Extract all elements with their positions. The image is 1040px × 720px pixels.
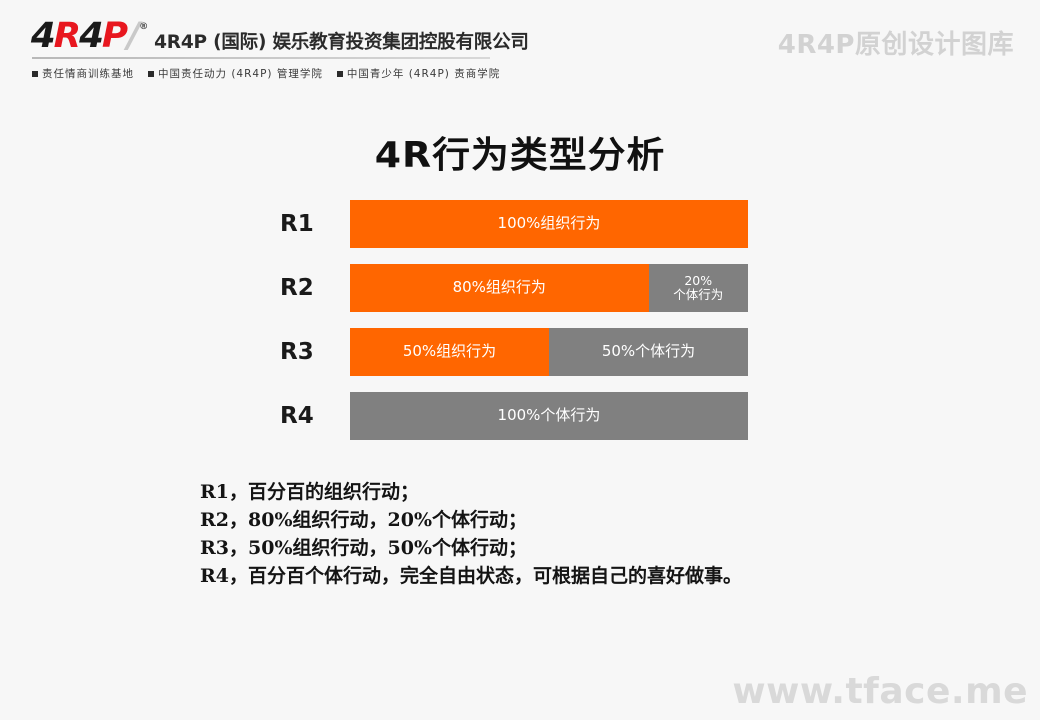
site-header: 4R4P/® 4R4P (国际) 娱乐教育投资集团控股有限公司 责任情商训练基地… — [0, 0, 1040, 88]
bar-row: R4 100%个体行为 — [0, 392, 1040, 440]
bar-segment-individual: 50%个体行为 — [549, 328, 748, 376]
bar-segment-organizational: 80%组织行为 — [350, 264, 649, 312]
4r4p-logo-icon: 4R4P/® — [31, 19, 147, 54]
company-name: 4R4P (国际) 娱乐教育投资集团控股有限公司 — [154, 28, 529, 54]
bar-segment-text-line2: 个体行为 — [673, 288, 723, 302]
sub-item-label: 责任情商训练基地 — [42, 66, 134, 81]
logo-part-2: R — [54, 19, 79, 54]
registered-trademark-icon: ® — [139, 23, 148, 32]
logo-part-3: 4 — [79, 19, 102, 54]
annotation-line: R3，50%组织行动，50%个体行动； — [200, 534, 1000, 562]
bar-segment-individual: 100%个体行为 — [350, 392, 748, 440]
bar-segment-text: 20% — [684, 274, 712, 288]
header-watermark: 4R4P原创设计图库 — [778, 24, 1014, 61]
bar-track: 80%组织行为 20% 个体行为 — [350, 264, 748, 312]
annotation-line: R2，80%组织行动，20%个体行动； — [200, 506, 1000, 534]
bar-track: 100%组织行为 — [350, 200, 748, 248]
bar-segment-text: 50%个体行为 — [602, 343, 695, 360]
chart-annotations: R1，百分百的组织行动； R2，80%组织行动，20%个体行动； R3，50%组… — [200, 478, 1000, 590]
bar-category-label: R3 — [280, 328, 334, 376]
bar-segment-individual: 20% 个体行为 — [649, 264, 749, 312]
stacked-bar-chart: R1 100%组织行为 R2 80%组织行为 20% 个体行为 R3 — [0, 200, 1040, 456]
bar-category-label: R4 — [280, 392, 334, 440]
logo-exclamation-icon: / — [127, 19, 138, 54]
square-bullet-icon — [337, 71, 343, 77]
bar-row: R2 80%组织行为 20% 个体行为 — [0, 264, 1040, 312]
bar-track: 100%个体行为 — [350, 392, 748, 440]
logo-part-4: P — [102, 19, 126, 54]
annotation-line: R4，百分百个体行动，完全自由状态，可根据自己的喜好做事。 — [200, 562, 1000, 590]
brand-block: 4R4P/® 4R4P (国际) 娱乐教育投资集团控股有限公司 责任情商训练基地… — [32, 12, 492, 81]
sub-item-label: 中国青少年 (4R4P) 责商学院 — [347, 66, 500, 81]
sub-item-training-base: 责任情商训练基地 — [32, 66, 134, 81]
bar-category-label: R2 — [280, 264, 334, 312]
bar-track: 50%组织行为 50%个体行为 — [350, 328, 748, 376]
bar-segment-organizational: 50%组织行为 — [350, 328, 549, 376]
bar-row: R1 100%组织行为 — [0, 200, 1040, 248]
logo-part-1: 4 — [31, 19, 54, 54]
bar-row: R3 50%组织行为 50%个体行为 — [0, 328, 1040, 376]
square-bullet-icon — [148, 71, 154, 77]
slide-body: 4R行为类型分析 R1 100%组织行为 R2 80%组织行为 20% 个体行为 — [0, 88, 1040, 720]
chart-title: 4R行为类型分析 — [0, 126, 1040, 178]
bar-category-label: R1 — [280, 200, 334, 248]
footer-watermark: www.tface.me — [732, 671, 1028, 712]
bar-segment-text: 100%组织行为 — [498, 215, 601, 232]
brand-sub-items: 责任情商训练基地 中国责任动力 (4R4P) 管理学院 中国青少年 (4R4P)… — [32, 66, 492, 81]
bar-segment-text: 100%个体行为 — [498, 407, 601, 424]
sub-item-management-academy: 中国责任动力 (4R4P) 管理学院 — [148, 66, 323, 81]
sub-item-youth-academy: 中国青少年 (4R4P) 责商学院 — [337, 66, 500, 81]
sub-item-label: 中国责任动力 (4R4P) 管理学院 — [158, 66, 323, 81]
bar-segment-organizational: 100%组织行为 — [350, 200, 748, 248]
brand-divider — [32, 57, 490, 59]
annotation-line: R1，百分百的组织行动； — [200, 478, 1000, 506]
brand-row: 4R4P/® 4R4P (国际) 娱乐教育投资集团控股有限公司 — [32, 12, 492, 54]
bar-segment-text: 80%组织行为 — [453, 279, 546, 296]
bar-segment-text: 50%组织行为 — [403, 343, 496, 360]
square-bullet-icon — [32, 71, 38, 77]
